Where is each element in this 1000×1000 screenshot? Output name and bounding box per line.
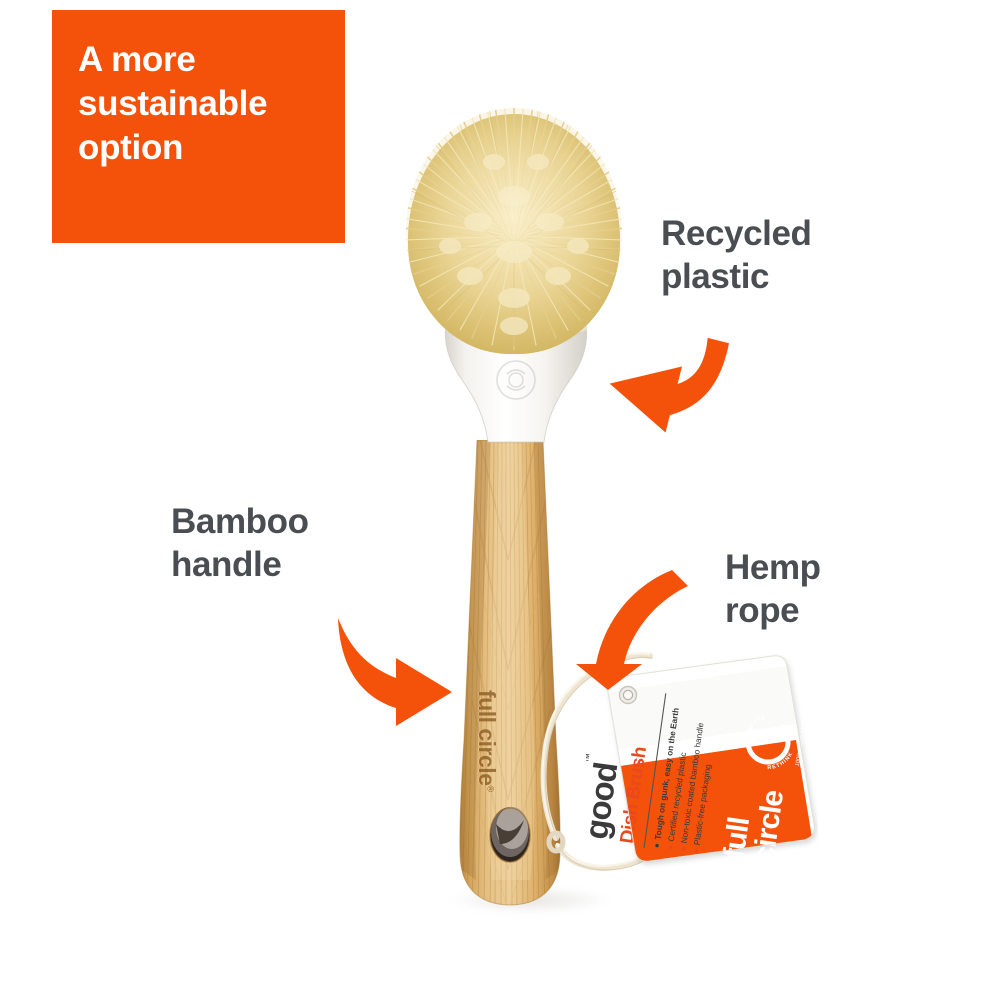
callout-hemp-rope-line-1: Hemp [725, 546, 905, 589]
callout-bamboo-handle: Bamboo handle [171, 500, 401, 586]
callout-recycled-plastic-line-2: plastic [661, 255, 911, 298]
callout-recycled-plastic: Recycled plastic [661, 212, 911, 298]
infographic-canvas: A more sustainable option [0, 0, 1000, 1000]
callout-bamboo-handle-line-2: handle [171, 543, 401, 586]
handle-brand-logo-text: full circle [474, 690, 500, 785]
callout-recycled-plastic-line-1: Recycled [661, 212, 911, 255]
callout-hemp-rope: Hemp rope [725, 546, 905, 632]
dish-brush-product-photo: full circle® [0, 0, 1000, 1000]
callout-hemp-rope-line-2: rope [725, 589, 905, 632]
arrow-to-recycled-plastic [595, 325, 755, 445]
handle-brand-logo: full circle® [473, 690, 500, 792]
arrow-to-bamboo-handle [300, 612, 460, 732]
registered-mark-icon: ® [486, 785, 496, 791]
arrow-to-hemp-rope [560, 560, 700, 690]
callout-bamboo-handle-line-1: Bamboo [171, 500, 401, 543]
svg-text:™: ™ [586, 753, 596, 764]
